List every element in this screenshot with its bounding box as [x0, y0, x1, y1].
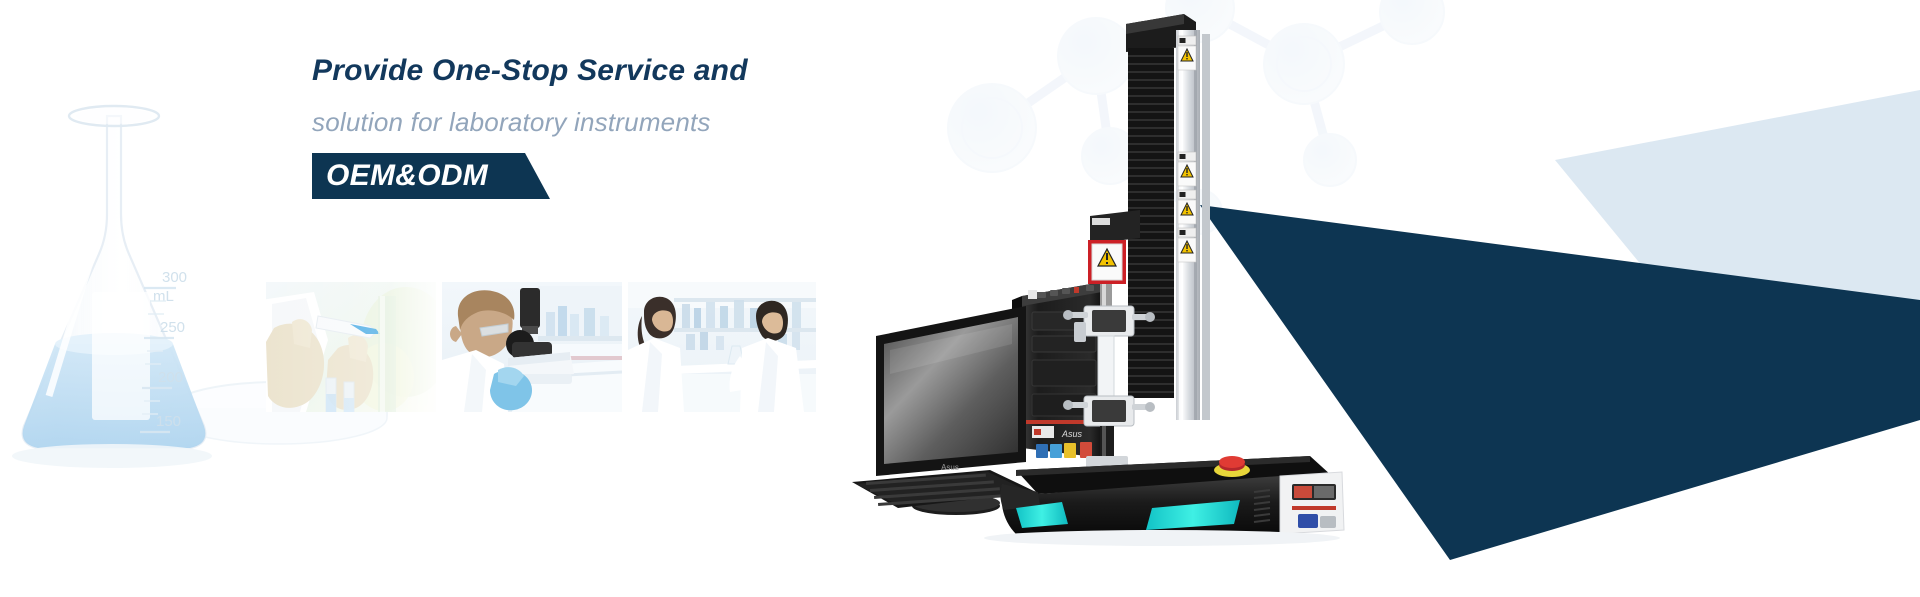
- page-title: Provide One-Stop Service and: [312, 56, 1072, 86]
- svg-text:200: 200: [158, 369, 183, 386]
- emergency-stop-button: [1214, 456, 1250, 477]
- dark-navy-arrow: [1200, 205, 1920, 560]
- svg-text:Asus: Asus: [1061, 429, 1083, 439]
- ribbon-shape: OEM&ODM: [312, 153, 550, 199]
- pc-tower: Asus: [1012, 282, 1102, 458]
- page-subtitle: solution for laboratory instruments: [312, 109, 1072, 135]
- cyan-accent-left: [1016, 502, 1068, 528]
- photo-scientist-pipetting: [266, 282, 436, 412]
- keyboard: [852, 470, 1036, 508]
- cyan-accent-right: [1146, 500, 1240, 530]
- warning-triangle-sticker: [1178, 36, 1196, 262]
- oem-odm-ribbon: OEM&ODM: [312, 153, 562, 199]
- ribbon-label: OEM&ODM: [312, 159, 488, 193]
- svg-text:150: 150: [156, 413, 181, 430]
- photo-scientist-microscope: [442, 282, 622, 412]
- erlenmeyer-flask: mL 300 250 200 150: [23, 106, 206, 448]
- flask-unit-label: mL: [153, 288, 174, 305]
- lcd-monitor: Asus: [876, 306, 1026, 515]
- geometric-arrow-decoration: [1200, 0, 1920, 597]
- photo-lab-technicians: [628, 282, 816, 412]
- headline-block: Provide One-Stop Service and solution fo…: [312, 56, 1072, 199]
- photo-strip: [266, 282, 816, 412]
- promotional-banner: mL 300 250 200 150: [0, 0, 1920, 597]
- svg-text:Asus: Asus: [941, 463, 959, 472]
- svg-text:250: 250: [160, 319, 185, 336]
- desktop-computer-workstation: Asus Asus: [852, 282, 1102, 515]
- light-blue-arrow: [1555, 90, 1920, 350]
- svg-text:300: 300: [162, 269, 187, 286]
